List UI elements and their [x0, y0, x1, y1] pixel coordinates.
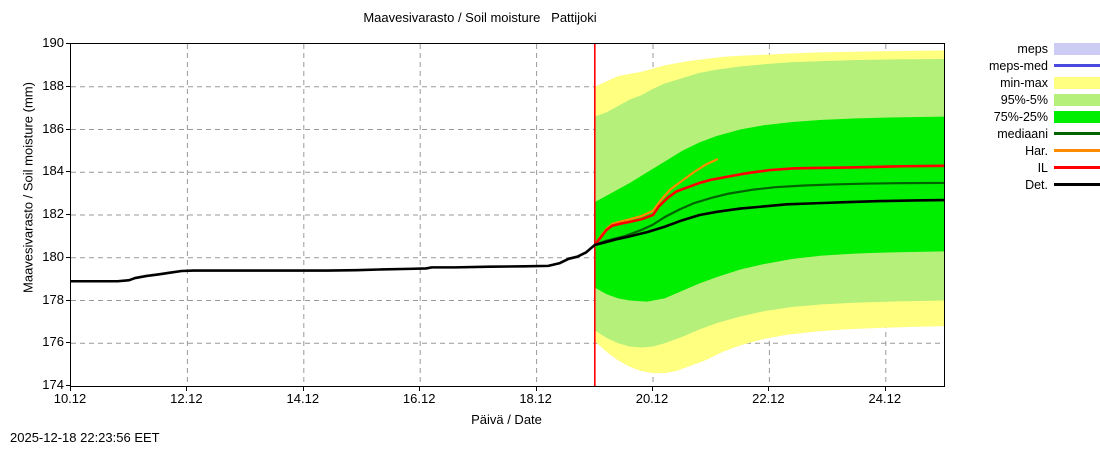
timestamp-label: 2025-12-18 22:23:56 EET: [10, 430, 160, 445]
legend-swatch-line: [1054, 149, 1100, 152]
y-tick-label: 174: [8, 379, 64, 391]
legend-item-95-5-: 95%-5%: [960, 91, 1100, 108]
x-tick-label: 14.12: [263, 393, 343, 405]
legend-label: mediaani: [997, 127, 1054, 141]
legend-item-det-: Det.: [960, 176, 1100, 193]
chart-title: Maavesivarasto / Soil moisture Pattijoki: [0, 10, 960, 25]
y-tick-label: 178: [8, 294, 64, 306]
chart-figure: Maavesivarasto / Soil moisture Pattijoki…: [0, 0, 1100, 450]
legend-swatch-patch: [1054, 111, 1100, 123]
legend-swatch-line: [1054, 132, 1100, 135]
legend-label: 75%-25%: [994, 110, 1054, 124]
x-tick-label: 20.12: [612, 393, 692, 405]
legend-item-meps: meps: [960, 40, 1100, 57]
legend-item-il: IL: [960, 159, 1100, 176]
legend-label: Har.: [1025, 144, 1054, 158]
legend-swatch-line: [1054, 166, 1100, 169]
legend-label: IL: [1038, 161, 1054, 175]
x-axis-label: Päivä / Date: [70, 412, 943, 427]
y-tick-label: 176: [8, 336, 64, 348]
chart-legend: mepsmeps-medmin-max95%-5%75%-25%mediaani…: [960, 40, 1100, 193]
y-tick-label: 180: [8, 251, 64, 263]
y-tick-label: 190: [8, 37, 64, 49]
y-tick-label: 184: [8, 165, 64, 177]
plot-area: [70, 43, 945, 387]
legend-label: meps: [1017, 42, 1054, 56]
legend-swatch-line: [1054, 64, 1100, 67]
legend-swatch-line: [1054, 183, 1100, 186]
legend-label: Det.: [1025, 178, 1054, 192]
legend-item-meps-med: meps-med: [960, 57, 1100, 74]
legend-label: 95%-5%: [1001, 93, 1054, 107]
y-tick-label: 182: [8, 208, 64, 220]
legend-swatch-patch: [1054, 43, 1100, 55]
legend-item-min-max: min-max: [960, 74, 1100, 91]
legend-item-75-25-: 75%-25%: [960, 108, 1100, 125]
legend-item-har-: Har.: [960, 142, 1100, 159]
legend-label: min-max: [1000, 76, 1054, 90]
x-tick-label: 10.12: [30, 393, 110, 405]
x-tick-label: 12.12: [146, 393, 226, 405]
legend-item-mediaani: mediaani: [960, 125, 1100, 142]
x-tick-label: 16.12: [379, 393, 459, 405]
y-tick-label: 186: [8, 123, 64, 135]
x-tick-label: 24.12: [845, 393, 925, 405]
x-tick-label: 18.12: [496, 393, 576, 405]
plot-svg: [71, 44, 944, 386]
legend-swatch-patch: [1054, 77, 1100, 89]
x-tick-label: 22.12: [728, 393, 808, 405]
legend-swatch-patch: [1054, 94, 1100, 106]
legend-label: meps-med: [989, 59, 1054, 73]
y-tick-label: 188: [8, 80, 64, 92]
